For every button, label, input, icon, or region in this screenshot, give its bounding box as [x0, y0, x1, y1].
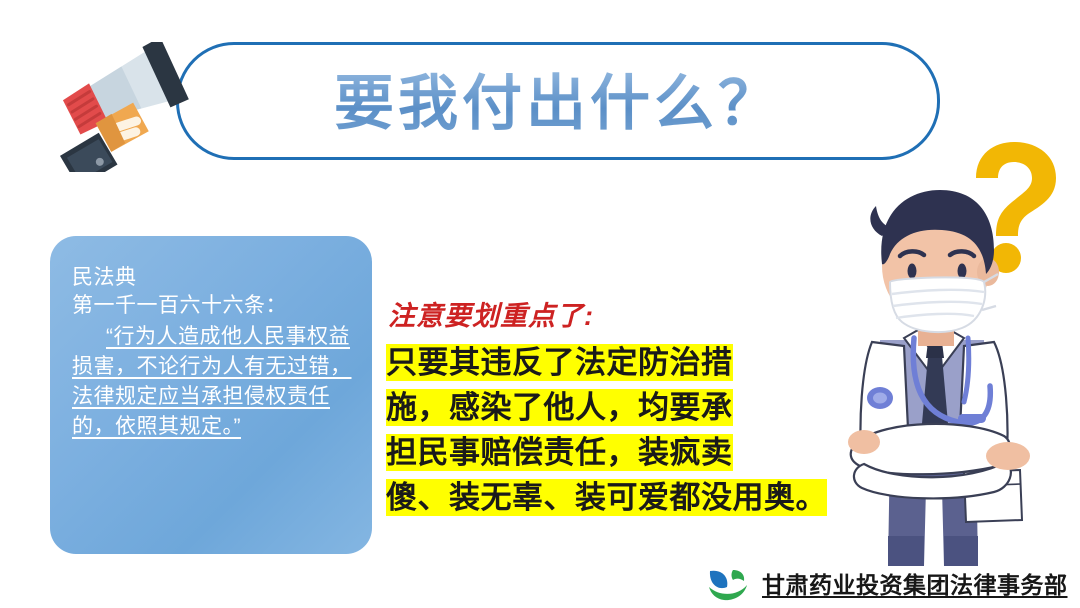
doctor-illustration	[818, 170, 1048, 570]
law-source-title: 民法典	[72, 264, 354, 292]
law-article-number: 第一千一百六十六条：	[72, 292, 354, 320]
company-name: 甘肃药业投资集团法律事务部	[762, 566, 1068, 600]
highlight-line: 只要其违反了法定防治措	[386, 340, 798, 385]
page-title: 要我付出什么？	[176, 58, 940, 150]
highlight-line: 担民事赔偿责任，装疯卖	[386, 430, 798, 475]
footer-branding: 甘肃药业投资集团法律事务部	[706, 562, 1068, 604]
highlight-line-text: 傻、装无辜、装可爱都没用奥。	[386, 479, 827, 516]
highlight-line-text: 只要其违反了法定防治措	[386, 344, 733, 381]
law-card: 民法典 第一千一百六十六条： “行为人造成他人民事权益损害，不论行为人有无过错，…	[50, 236, 372, 554]
highlight-line: 傻、装无辜、装可爱都没用奥。	[386, 475, 798, 520]
megaphone-icon	[48, 42, 198, 172]
highlight-line-text: 施，感染了他人，均要承	[386, 389, 733, 426]
highlighted-note: 只要其违反了法定防治措 施，感染了他人，均要承 担民事赔偿责任，装疯卖 傻、装无…	[386, 340, 798, 520]
slide-canvas: 要我付出什么？ 要我付出什么？	[0, 0, 1080, 608]
highlight-line: 施，感染了他人，均要承	[386, 385, 798, 430]
note-heading: 注意要划重点了:	[388, 294, 594, 333]
highlight-line-text: 担民事赔偿责任，装疯卖	[386, 434, 733, 471]
law-quote-text: “行为人造成他人民事权益损害，不论行为人有无过错，法律规定应当承担侵权责任的，依…	[72, 322, 354, 442]
company-logo-icon	[706, 565, 750, 601]
